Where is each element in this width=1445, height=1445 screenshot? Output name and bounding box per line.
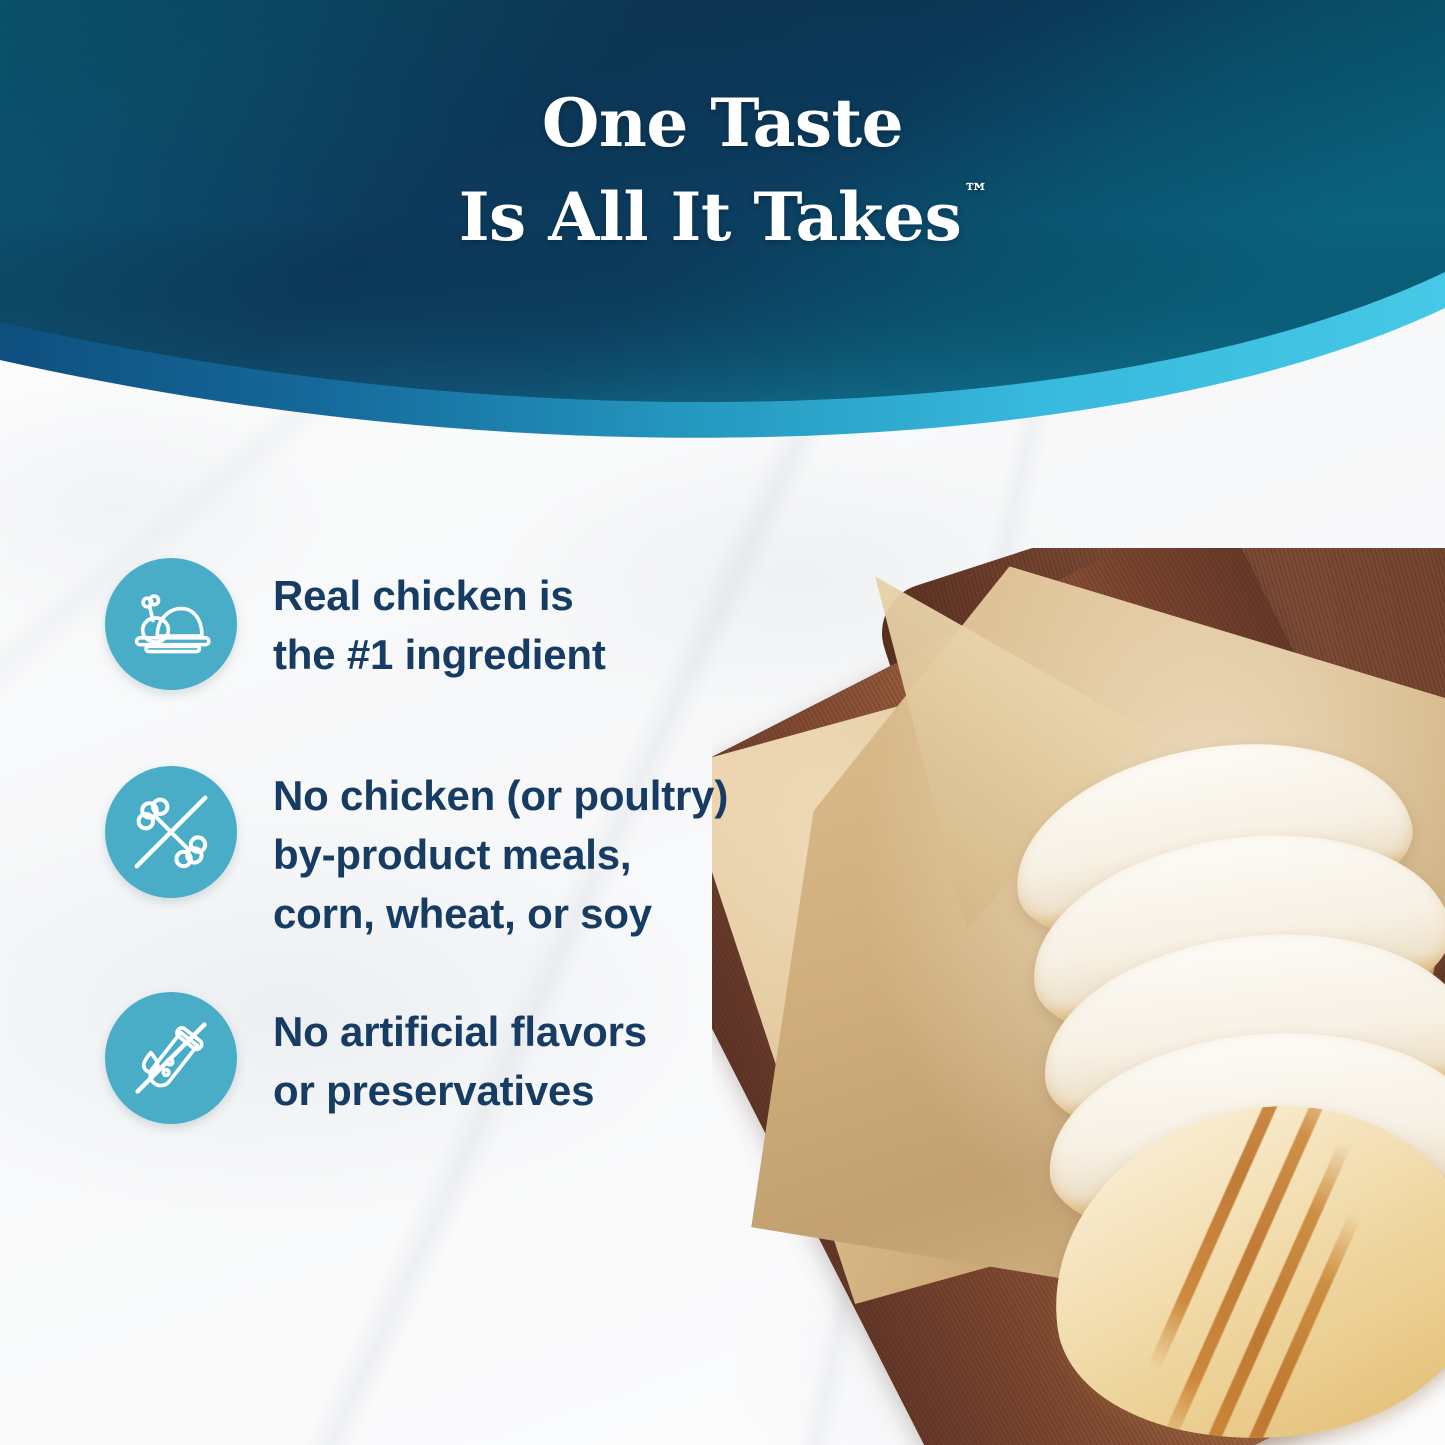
headline-line-2: Is All It Takes bbox=[459, 178, 962, 256]
headline-line-1: One Taste bbox=[0, 80, 1445, 166]
roast-chicken-platter-icon bbox=[105, 558, 237, 690]
benefit-item-no-byproduct: No chicken (or poultry) by-product meals… bbox=[105, 766, 728, 943]
trademark-symbol: ™ bbox=[963, 178, 988, 207]
benefit-text: Real chicken is the #1 ingredient bbox=[273, 558, 606, 684]
benefit-text: No chicken (or poultry) by-product meals… bbox=[273, 766, 728, 943]
benefit-item-real-chicken: Real chicken is the #1 ingredient bbox=[105, 558, 606, 690]
benefit-item-no-artificial: No artificial flavors or preservatives bbox=[105, 992, 647, 1124]
grilled-chicken-photo bbox=[712, 548, 1445, 1445]
header-banner: One Taste Is All It Takes™ bbox=[0, 0, 1445, 460]
no-bone-slash-icon bbox=[105, 766, 237, 898]
benefit-text: No artificial flavors or preservatives bbox=[273, 992, 647, 1120]
ad-canvas: One Taste Is All It Takes™ bbox=[0, 0, 1445, 1445]
page-title: One Taste Is All It Takes™ bbox=[0, 80, 1445, 260]
no-test-tube-slash-icon bbox=[105, 992, 237, 1124]
headline-line-2-wrap: Is All It Takes™ bbox=[459, 166, 987, 260]
